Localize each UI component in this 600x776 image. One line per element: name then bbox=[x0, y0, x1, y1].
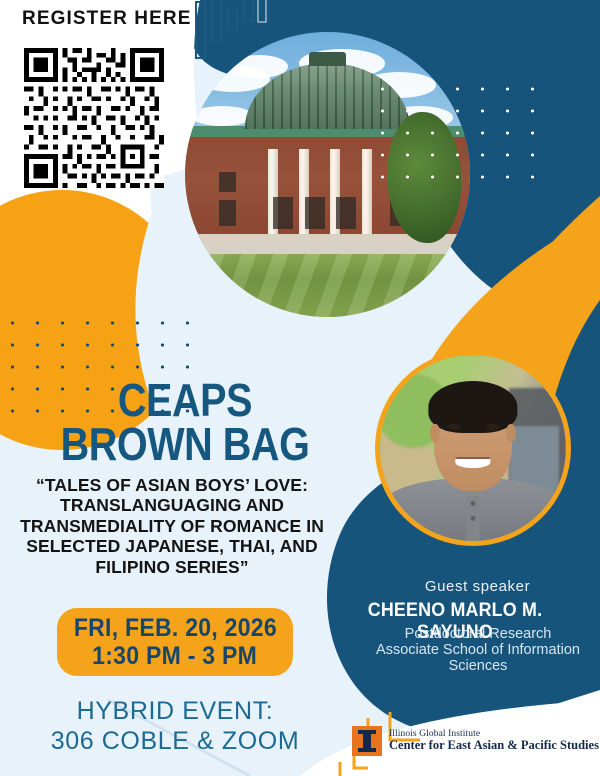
organization-logo: Illinois Global Institute Center for Eas… bbox=[352, 726, 599, 756]
illinois-block-i-icon bbox=[352, 726, 382, 756]
window bbox=[219, 200, 236, 226]
title-line-1: CEAPS bbox=[60, 378, 309, 422]
room-label: 306 COBLE & ZOOM bbox=[10, 726, 340, 756]
date-time-badge: FRI, FEB. 20, 2026 1:30 PM - 3 PM bbox=[57, 608, 293, 676]
window bbox=[219, 172, 236, 192]
hair bbox=[428, 381, 517, 433]
talk-subtitle: “TALES OF ASIAN BOYS’ LOVE: TRANSLANGUAG… bbox=[12, 475, 332, 577]
event-location: HYBRID EVENT: 306 COBLE & ZOOM bbox=[10, 696, 340, 756]
eye-right bbox=[486, 424, 499, 430]
speaker-headshot-photo bbox=[375, 350, 571, 546]
door bbox=[305, 197, 325, 228]
qr-code-svg bbox=[24, 48, 164, 188]
qr-code-icon[interactable] bbox=[24, 48, 164, 188]
event-date: FRI, FEB. 20, 2026 bbox=[73, 614, 276, 642]
dome-lantern bbox=[309, 52, 346, 66]
logo-text: Illinois Global Institute Center for Eas… bbox=[389, 729, 599, 753]
door bbox=[336, 197, 356, 228]
eye-left bbox=[447, 424, 460, 430]
ear-right bbox=[506, 424, 515, 443]
shirt-button bbox=[471, 501, 476, 506]
event-poster: REGISTER HERE bbox=[0, 0, 600, 776]
guest-speaker-label: Guest speaker bbox=[370, 578, 585, 595]
page-title: CEAPS BROWN BAG bbox=[60, 378, 309, 466]
title-line-2: BROWN BAG bbox=[60, 422, 309, 466]
shirt-button bbox=[471, 516, 476, 521]
dot-grid-white bbox=[370, 78, 550, 183]
hybrid-label: HYBRID EVENT: bbox=[10, 696, 340, 726]
speaker-affiliation: Postdoctoral Research Associate School o… bbox=[372, 626, 584, 675]
event-time: 1:30 PM - 3 PM bbox=[93, 642, 258, 670]
register-here-label: REGISTER HERE bbox=[22, 8, 192, 30]
ear-left bbox=[430, 424, 439, 443]
logo-line-2: Center for East Asian & Pacific Studies bbox=[389, 739, 599, 753]
door bbox=[273, 197, 293, 228]
